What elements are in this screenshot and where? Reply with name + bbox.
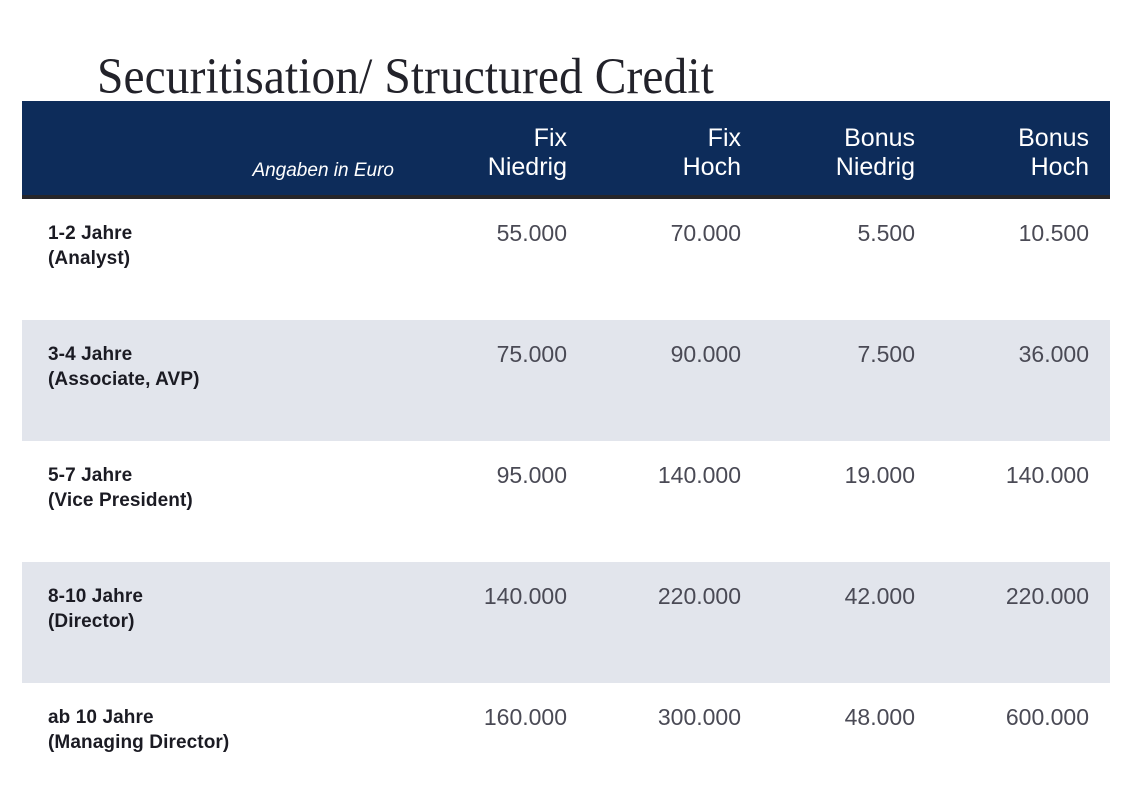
column-header-fix-niedrig-line2: Niedrig <box>414 153 567 182</box>
column-header-bonus-niedrig-line1: Bonus <box>762 124 915 153</box>
page-root: Securitisation/ Structured Credit Angabe… <box>0 0 1136 740</box>
cell-fix-hoch: 300.000 <box>588 683 762 804</box>
cell-bonus-niedrig: 5.500 <box>762 197 936 320</box>
cell-bonus-niedrig: 42.000 <box>762 562 936 683</box>
cell-bonus-niedrig: 7.500 <box>762 320 936 441</box>
table-header: Angaben in Euro Fix Niedrig Fix Hoch <box>22 101 1110 197</box>
cell-bonus-hoch: 220.000 <box>936 562 1110 683</box>
row-label-years: 8-10 Jahre <box>48 584 414 609</box>
cell-bonus-niedrig: 48.000 <box>762 683 936 804</box>
column-header-label: Angaben in Euro <box>22 101 414 197</box>
table-body: 1-2 Jahre (Analyst) 55.000 70.000 5.500 … <box>22 197 1110 804</box>
compensation-table: Angaben in Euro Fix Niedrig Fix Hoch <box>22 101 1110 804</box>
table-row: 8-10 Jahre (Director) 140.000 220.000 42… <box>22 562 1110 683</box>
cell-fix-niedrig: 160.000 <box>414 683 588 804</box>
column-header-bonus-hoch-line2: Hoch <box>936 153 1089 182</box>
row-label-title: (Analyst) <box>48 246 414 271</box>
table-row: 5-7 Jahre (Vice President) 95.000 140.00… <box>22 441 1110 562</box>
row-label-cell: ab 10 Jahre (Managing Director) <box>22 683 414 804</box>
cell-fix-hoch: 140.000 <box>588 441 762 562</box>
cell-fix-niedrig: 75.000 <box>414 320 588 441</box>
column-header-fix-hoch-line2: Hoch <box>588 153 741 182</box>
column-header-fix-hoch-line1: Fix <box>588 124 741 153</box>
cell-bonus-hoch: 600.000 <box>936 683 1110 804</box>
row-label-years: 5-7 Jahre <box>48 463 414 488</box>
page-title: Securitisation/ Structured Credit <box>97 46 714 108</box>
cell-bonus-hoch: 140.000 <box>936 441 1110 562</box>
row-label-years: 3-4 Jahre <box>48 342 414 367</box>
salary-table-container: Angaben in Euro Fix Niedrig Fix Hoch <box>0 101 1136 804</box>
row-label-years: 1-2 Jahre <box>48 221 414 246</box>
cell-fix-niedrig: 55.000 <box>414 197 588 320</box>
cell-fix-niedrig: 140.000 <box>414 562 588 683</box>
table-header-row: Angaben in Euro Fix Niedrig Fix Hoch <box>22 101 1110 197</box>
cell-fix-hoch: 220.000 <box>588 562 762 683</box>
column-header-fix-niedrig: Fix Niedrig <box>414 101 588 197</box>
row-label-title: (Managing Director) <box>48 730 414 755</box>
table-row: 1-2 Jahre (Analyst) 55.000 70.000 5.500 … <box>22 197 1110 320</box>
column-header-bonus-niedrig-line2: Niedrig <box>762 153 915 182</box>
row-label-cell: 3-4 Jahre (Associate, AVP) <box>22 320 414 441</box>
cell-bonus-hoch: 36.000 <box>936 320 1110 441</box>
row-label-cell: 1-2 Jahre (Analyst) <box>22 197 414 320</box>
cell-bonus-niedrig: 19.000 <box>762 441 936 562</box>
row-label-title: (Associate, AVP) <box>48 367 414 392</box>
column-header-bonus-niedrig: Bonus Niedrig <box>762 101 936 197</box>
column-header-label-note: Angaben in Euro <box>252 160 394 181</box>
cell-fix-niedrig: 95.000 <box>414 441 588 562</box>
table-row: ab 10 Jahre (Managing Director) 160.000 … <box>22 683 1110 804</box>
row-label-title: (Director) <box>48 609 414 634</box>
row-label-title: (Vice President) <box>48 488 414 513</box>
table-row: 3-4 Jahre (Associate, AVP) 75.000 90.000… <box>22 320 1110 441</box>
column-header-bonus-hoch: Bonus Hoch <box>936 101 1110 197</box>
cell-fix-hoch: 70.000 <box>588 197 762 320</box>
cell-fix-hoch: 90.000 <box>588 320 762 441</box>
cell-bonus-hoch: 10.500 <box>936 197 1110 320</box>
row-label-cell: 5-7 Jahre (Vice President) <box>22 441 414 562</box>
row-label-years: ab 10 Jahre <box>48 705 414 730</box>
column-header-bonus-hoch-line1: Bonus <box>936 124 1089 153</box>
column-header-fix-hoch: Fix Hoch <box>588 101 762 197</box>
column-header-fix-niedrig-line1: Fix <box>414 124 567 153</box>
row-label-cell: 8-10 Jahre (Director) <box>22 562 414 683</box>
